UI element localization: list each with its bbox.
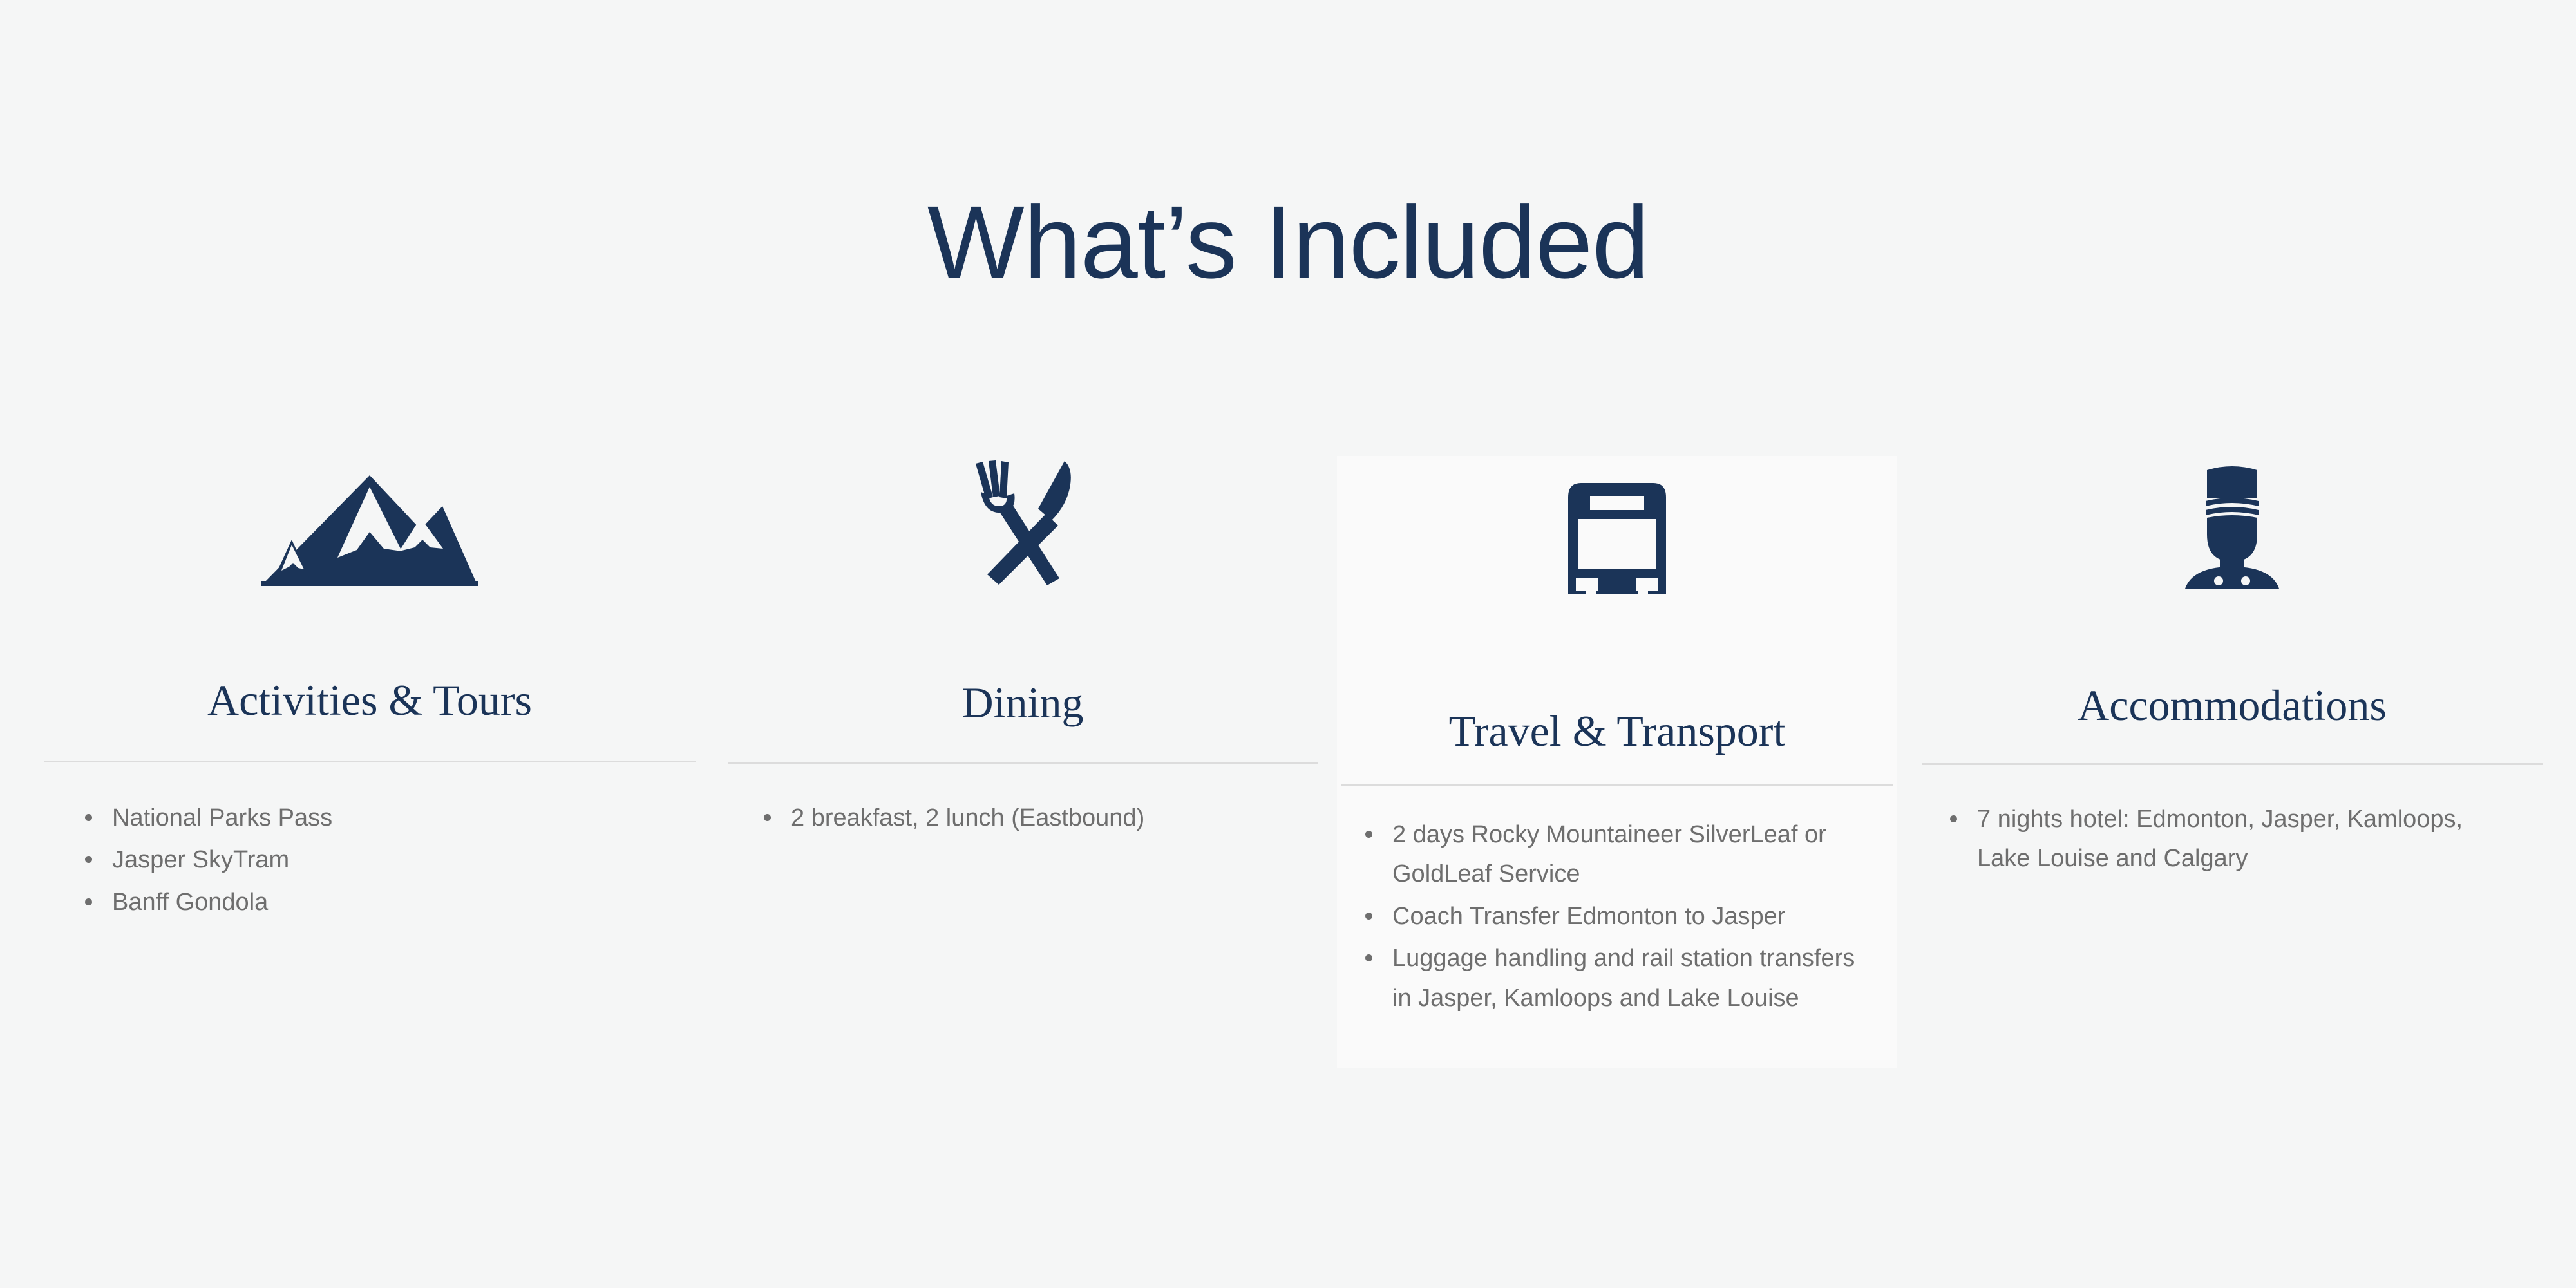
list-item: Luggage handling and rail station transf… (1361, 939, 1877, 1018)
card-heading: Activities & Tours (27, 676, 712, 724)
card-heading: Accommodations (1910, 681, 2554, 730)
whats-included-section: What’s Included Activities & Tours Natio… (0, 0, 2576, 1288)
inclusion-list: National Parks Pass Jasper SkyTram Banff… (81, 799, 661, 923)
fork-and-knife-icon (712, 425, 1333, 587)
inclusion-list: 7 nights hotel: Edmonton, Jasper, Kamloo… (1946, 800, 2513, 879)
list-item: National Parks Pass (81, 799, 661, 838)
bus-icon (1337, 456, 1897, 609)
card-divider (44, 761, 696, 762)
card-divider (1922, 763, 2543, 765)
inclusion-card-accommodations: Accommodations 7 nights hotel: Edmonton,… (1910, 434, 2554, 882)
inclusion-list: 2 days Rocky Mountaineer SilverLeaf or G… (1361, 815, 1877, 1019)
inclusion-list: 2 breakfast, 2 lunch (Eastbound) (760, 799, 1301, 838)
inclusion-card-dining: Dining 2 breakfast, 2 lunch (Eastbound) (712, 425, 1333, 840)
inclusion-card-travel: Travel & Transport 2 days Rocky Mountain… (1337, 456, 1897, 1068)
card-heading: Dining (712, 679, 1333, 727)
page-title: What’s Included (0, 188, 2576, 296)
list-item: Banff Gondola (81, 883, 661, 923)
list-item: 2 breakfast, 2 lunch (Eastbound) (760, 799, 1301, 838)
inclusions-card-grid: Activities & Tours National Parks Pass J… (0, 425, 2576, 1108)
list-item: 7 nights hotel: Edmonton, Jasper, Kamloo… (1946, 800, 2513, 879)
list-item: Coach Transfer Edmonton to Jasper (1361, 897, 1877, 937)
card-divider (728, 762, 1318, 764)
card-divider (1341, 784, 1893, 786)
bellhop-icon (1910, 434, 2554, 589)
list-item: Jasper SkyTram (81, 840, 661, 880)
mountains-icon (27, 425, 712, 586)
list-item: 2 days Rocky Mountaineer SilverLeaf or G… (1361, 815, 1877, 895)
card-heading: Travel & Transport (1337, 707, 1897, 755)
inclusion-card-activities: Activities & Tours National Parks Pass J… (27, 425, 712, 925)
